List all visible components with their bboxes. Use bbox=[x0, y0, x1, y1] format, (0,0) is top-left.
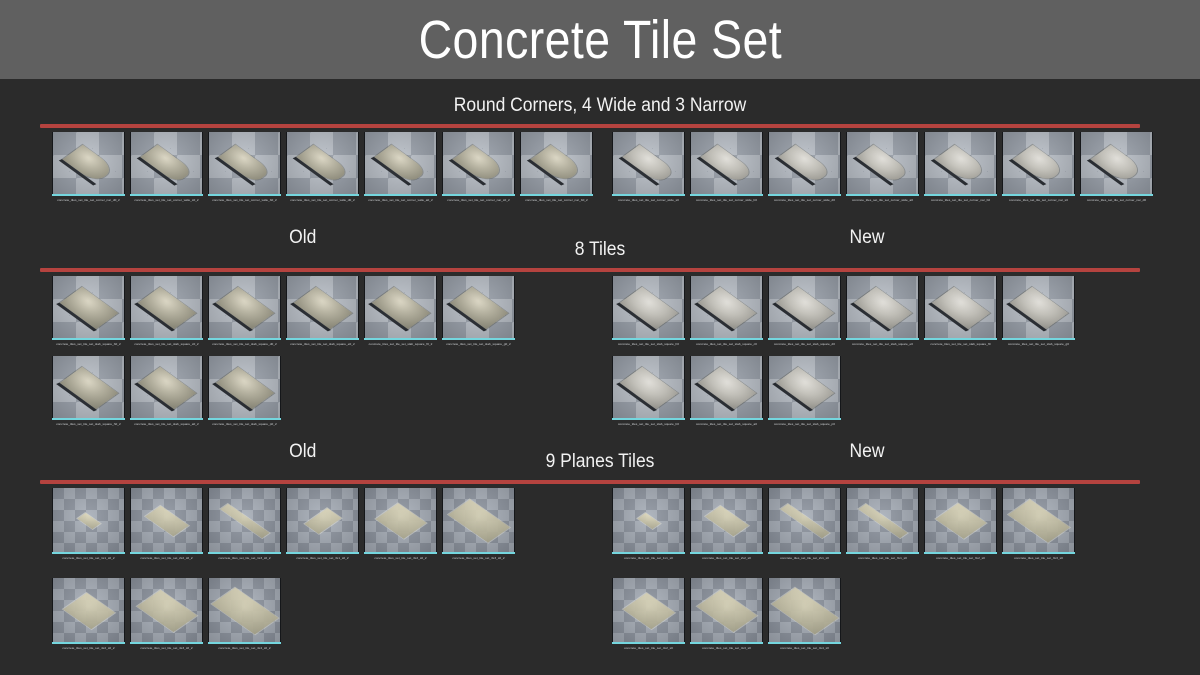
thumbnail-card[interactable]: concrete_tiles_set_tile_set_slab_square_… bbox=[286, 276, 359, 346]
preview-vignette bbox=[613, 578, 684, 642]
thumbnail-label: concrete_tiles_set_tile_set_2x2_s0 bbox=[690, 556, 763, 560]
thumbnail-preview[interactable] bbox=[1002, 488, 1075, 552]
preview-vignette bbox=[131, 132, 202, 194]
thumbnail-card[interactable]: concrete_tiles_set_tile_set_2x1_s0 bbox=[768, 488, 841, 560]
thumbnail-preview[interactable] bbox=[52, 356, 125, 418]
thumbnail-row: concrete_tiles_set_tile_set_corner_wide_… bbox=[612, 132, 1153, 202]
thumbnail-preview[interactable] bbox=[286, 132, 359, 194]
preview-vignette bbox=[287, 276, 358, 338]
thumbnail-preview[interactable] bbox=[924, 488, 997, 552]
thumbnail-label: concrete_tiles_set_tile_set_corner_wide_… bbox=[612, 198, 685, 202]
page-title: Concrete Tile Set bbox=[418, 13, 782, 67]
thumbnail-underline bbox=[768, 552, 841, 554]
thumbnail-underline bbox=[846, 194, 919, 196]
preview-vignette bbox=[769, 356, 840, 418]
thumbnail-preview[interactable] bbox=[364, 132, 437, 194]
thumbnail-card[interactable]: concrete_tiles_set_tile_set_slab_square_… bbox=[442, 276, 515, 346]
thumbnail-card[interactable]: concrete_tiles_set_tile_set_corner_wide_… bbox=[364, 132, 437, 202]
thumbnail-label: concrete_tiles_set_tile_set_4x4_s0_2 bbox=[208, 646, 281, 650]
thumbnail-card[interactable]: concrete_tiles_set_tile_set_corner_nar_b… bbox=[520, 132, 593, 202]
thumbnail-underline bbox=[768, 338, 841, 340]
thumbnail-preview[interactable] bbox=[612, 578, 685, 642]
thumbnail-underline bbox=[286, 194, 359, 196]
thumbnail-label: concrete_tiles_set_tile_set_slab_square_… bbox=[208, 422, 281, 426]
thumbnail-preview[interactable] bbox=[52, 276, 125, 338]
thumbnail-label: concrete_tiles_set_tile_set_corner_nar_b… bbox=[520, 198, 593, 202]
thumbnail-card[interactable]: concrete_tiles_set_tile_set_4x2_s0 bbox=[612, 578, 685, 650]
thumbnail-label: concrete_tiles_set_tile_set_corner_wide_… bbox=[364, 198, 437, 202]
thumbnail-underline bbox=[52, 552, 125, 554]
thumbnail-label: concrete_tiles_set_tile_set_corner_nar_s… bbox=[442, 198, 515, 202]
preview-vignette bbox=[53, 578, 124, 642]
thumbnail-preview[interactable] bbox=[768, 356, 841, 418]
thumbnail-underline bbox=[520, 194, 593, 196]
thumbnail-preview[interactable] bbox=[52, 578, 125, 642]
thumbnail-label: concrete_tiles_set_tile_set_slab_square_… bbox=[286, 342, 359, 346]
thumbnail-label: concrete_tiles_set_tile_set_3x1_s0 bbox=[846, 556, 919, 560]
preview-vignette bbox=[613, 132, 684, 194]
thumbnail-underline bbox=[208, 418, 281, 420]
thumbnail-label: concrete_tiles_set_tile_set_corner_wide_… bbox=[846, 198, 919, 202]
thumbnail-card[interactable]: concrete_tiles_set_tile_set_corner_nar_d… bbox=[52, 132, 125, 202]
preview-vignette bbox=[769, 276, 840, 338]
thumbnail-preview[interactable] bbox=[768, 132, 841, 194]
thumbnail-preview[interactable] bbox=[612, 132, 685, 194]
thumbnail-underline bbox=[1002, 338, 1075, 340]
thumbnail-card[interactable]: concrete_tiles_set_tile_set_slab_square_… bbox=[1002, 276, 1075, 346]
thumbnail-card[interactable]: concrete_tiles_set_tile_set_2x2_s0_2 bbox=[130, 488, 203, 560]
preview-vignette bbox=[209, 132, 280, 194]
section-divider bbox=[40, 480, 1140, 484]
thumbnail-preview[interactable] bbox=[130, 578, 203, 642]
thumbnail-card[interactable]: concrete_tiles_set_tile_set_4x2_s0_2 bbox=[52, 578, 125, 650]
preview-vignette bbox=[521, 132, 592, 194]
thumbnail-underline bbox=[208, 194, 281, 196]
preview-vignette bbox=[847, 488, 918, 552]
thumbnail-label: concrete_tiles_set_tile_set_1x3_s0_2 bbox=[208, 556, 281, 560]
thumbnail-card[interactable]: concrete_tiles_set_tile_set_4x4_s0_2 bbox=[208, 578, 281, 650]
preview-vignette bbox=[53, 356, 124, 418]
thumbnail-card[interactable]: concrete_tiles_set_tile_set_slab_square_… bbox=[130, 356, 203, 426]
thumbnail-preview[interactable] bbox=[1080, 132, 1153, 194]
preview-vignette bbox=[1003, 276, 1074, 338]
thumbnail-underline bbox=[690, 194, 763, 196]
preview-vignette bbox=[131, 356, 202, 418]
thumbnail-preview[interactable] bbox=[1002, 132, 1075, 194]
preview-vignette bbox=[131, 276, 202, 338]
thumbnail-preview[interactable] bbox=[130, 132, 203, 194]
thumbnail-card[interactable]: concrete_tiles_set_tile_set_slab_square_… bbox=[52, 356, 125, 426]
thumbnail-label: concrete_tiles_set_tile_set_4x4_s0 bbox=[768, 646, 841, 650]
preview-vignette bbox=[53, 276, 124, 338]
thumbnail-preview[interactable] bbox=[690, 276, 763, 338]
thumbnail-preview[interactable] bbox=[846, 276, 919, 338]
thumbnail-underline bbox=[130, 194, 203, 196]
preview-vignette bbox=[691, 356, 762, 418]
thumbnail-underline bbox=[208, 552, 281, 554]
thumbnail-preview[interactable] bbox=[924, 276, 997, 338]
thumbnail-label: concrete_tiles_set_tile_set_4x2_s0_2 bbox=[52, 646, 125, 650]
thumbnail-card[interactable]: concrete_tiles_set_tile_set_2x2_s0 bbox=[690, 488, 763, 560]
thumbnail-card[interactable]: concrete_tiles_set_tile_set_corner_wide_… bbox=[286, 132, 359, 202]
section-title: 8 Tiles bbox=[48, 240, 1152, 259]
thumbnail-card[interactable]: concrete_tiles_set_tile_set_corner_nar_s… bbox=[442, 132, 515, 202]
thumbnail-underline bbox=[442, 552, 515, 554]
thumbnail-label: concrete_tiles_set_tile_set_2x1_s0 bbox=[768, 556, 841, 560]
thumbnail-card[interactable]: concrete_tiles_set_tile_set_3x2_s0_2 bbox=[364, 488, 437, 560]
thumbnail-label: concrete_tiles_set_tile_set_corner_nar_b… bbox=[924, 198, 997, 202]
thumbnail-row: concrete_tiles_set_tile_set_4x2_s0concre… bbox=[612, 578, 841, 650]
preview-vignette bbox=[287, 132, 358, 194]
thumbnail-label: concrete_tiles_set_tile_set_3x3_s0_2 bbox=[442, 556, 515, 560]
thumbnail-card[interactable]: concrete_tiles_set_tile_set_corner_nar_b… bbox=[924, 132, 997, 202]
thumbnail-card[interactable]: concrete_tiles_set_tile_set_corner_nar_s… bbox=[1002, 132, 1075, 202]
thumbnail-preview[interactable] bbox=[286, 276, 359, 338]
preview-vignette bbox=[769, 488, 840, 552]
thumbnail-preview[interactable] bbox=[612, 356, 685, 418]
thumbnail-label: concrete_tiles_set_tile_set_1x1_s0_2 bbox=[52, 556, 125, 560]
thumbnail-preview[interactable] bbox=[846, 488, 919, 552]
thumbnail-row: concrete_tiles_set_tile_set_1x1_s0_2conc… bbox=[52, 488, 515, 560]
thumbnail-underline bbox=[130, 642, 203, 644]
thumbnail-preview[interactable] bbox=[130, 276, 203, 338]
thumbnail-preview[interactable] bbox=[208, 488, 281, 552]
preview-vignette bbox=[847, 276, 918, 338]
thumbnail-label: concrete_tiles_set_tile_set_corner_nar_d… bbox=[52, 198, 125, 202]
thumbnail-label: concrete_tiles_set_tile_set_slab_square_… bbox=[208, 342, 281, 346]
thumbnail-preview[interactable] bbox=[690, 488, 763, 552]
thumbnail-underline bbox=[924, 338, 997, 340]
thumbnail-preview[interactable] bbox=[442, 488, 515, 552]
thumbnail-row: concrete_tiles_set_tile_set_slab_square_… bbox=[52, 356, 281, 426]
thumbnail-underline bbox=[364, 552, 437, 554]
thumbnail-card[interactable]: concrete_tiles_set_tile_set_slab_square_… bbox=[690, 356, 763, 426]
thumbnail-preview[interactable] bbox=[52, 132, 125, 194]
thumbnail-preview[interactable] bbox=[612, 488, 685, 552]
thumbnail-label: concrete_tiles_set_tile_set_corner_wide_… bbox=[286, 198, 359, 202]
preview-vignette bbox=[691, 276, 762, 338]
thumbnail-underline bbox=[52, 338, 125, 340]
thumbnail-label: concrete_tiles_set_tile_set_slab_square_… bbox=[52, 342, 125, 346]
thumbnail-underline bbox=[442, 194, 515, 196]
thumbnail-underline bbox=[1002, 552, 1075, 554]
preview-vignette bbox=[131, 488, 202, 552]
thumbnail-preview[interactable] bbox=[690, 132, 763, 194]
thumbnail-label: concrete_tiles_set_tile_set_corner_nar_d… bbox=[1080, 198, 1153, 202]
thumbnail-underline bbox=[364, 338, 437, 340]
thumbnail-preview[interactable] bbox=[846, 132, 919, 194]
preview-vignette bbox=[209, 578, 280, 642]
thumbnail-card[interactable]: concrete_tiles_set_tile_set_slab_square_… bbox=[208, 276, 281, 346]
preview-vignette bbox=[209, 488, 280, 552]
preview-vignette bbox=[925, 132, 996, 194]
thumbnail-underline bbox=[52, 418, 125, 420]
thumbnail-card[interactable]: concrete_tiles_set_tile_set_slab_square_… bbox=[612, 276, 685, 346]
thumbnail-card[interactable]: concrete_tiles_set_tile_set_1x1_s0 bbox=[612, 488, 685, 560]
preview-vignette bbox=[443, 276, 514, 338]
thumbnail-card[interactable]: concrete_tiles_set_tile_set_slab_square_… bbox=[130, 276, 203, 346]
thumbnail-label: concrete_tiles_set_tile_set_slab_square_… bbox=[768, 342, 841, 346]
thumbnail-card[interactable]: concrete_tiles_set_tile_set_slab_square_… bbox=[52, 276, 125, 346]
section-divider bbox=[40, 124, 1140, 128]
thumbnail-label: concrete_tiles_set_tile_set_slab_square_… bbox=[690, 342, 763, 346]
thumbnail-preview[interactable] bbox=[1002, 276, 1075, 338]
thumbnail-card[interactable]: concrete_tiles_set_tile_set_3x2_s0 bbox=[924, 488, 997, 560]
thumbnail-underline bbox=[286, 552, 359, 554]
thumbnail-underline bbox=[690, 418, 763, 420]
preview-vignette bbox=[691, 132, 762, 194]
thumbnail-preview[interactable] bbox=[612, 276, 685, 338]
preview-vignette bbox=[131, 578, 202, 642]
thumbnail-card[interactable]: concrete_tiles_set_tile_set_slab_square_… bbox=[690, 276, 763, 346]
preview-vignette bbox=[769, 132, 840, 194]
thumbnail-label: concrete_tiles_set_tile_set_slab_square_… bbox=[690, 422, 763, 426]
thumbnail-preview[interactable] bbox=[520, 132, 593, 194]
thumbnail-card[interactable]: concrete_tiles_set_tile_set_corner_wide_… bbox=[208, 132, 281, 202]
thumbnail-row: concrete_tiles_set_tile_set_1x1_s0concre… bbox=[612, 488, 1075, 560]
thumbnail-card[interactable]: concrete_tiles_set_tile_set_3x3_s0 bbox=[1002, 488, 1075, 560]
thumbnail-card[interactable]: concrete_tiles_set_tile_set_1x1_s0_2 bbox=[52, 488, 125, 560]
thumbnail-underline bbox=[768, 194, 841, 196]
thumbnail-preview[interactable] bbox=[208, 356, 281, 418]
thumbnail-label: concrete_tiles_set_tile_set_corner_nar_s… bbox=[1002, 198, 1075, 202]
thumbnail-label: concrete_tiles_set_tile_set_slab_square_… bbox=[924, 342, 997, 346]
preview-vignette bbox=[769, 578, 840, 642]
preview-vignette bbox=[53, 132, 124, 194]
thumbnail-preview[interactable] bbox=[286, 488, 359, 552]
thumbnail-underline bbox=[286, 338, 359, 340]
thumbnail-underline bbox=[846, 552, 919, 554]
thumbnail-preview[interactable] bbox=[130, 356, 203, 418]
thumbnail-label: concrete_tiles_set_tile_set_slab_square_… bbox=[612, 342, 685, 346]
preview-vignette bbox=[691, 488, 762, 552]
thumbnail-row: concrete_tiles_set_tile_set_slab_square_… bbox=[612, 356, 841, 426]
thumbnail-card[interactable]: concrete_tiles_set_tile_set_4x3_s0_2 bbox=[130, 578, 203, 650]
thumbnail-card[interactable]: concrete_tiles_set_tile_set_slab_square_… bbox=[768, 356, 841, 426]
preview-vignette bbox=[365, 132, 436, 194]
thumbnail-card[interactable]: concrete_tiles_set_tile_set_corner_wide_… bbox=[612, 132, 685, 202]
preview-vignette bbox=[613, 276, 684, 338]
thumbnail-label: concrete_tiles_set_tile_set_3x2_s0 bbox=[924, 556, 997, 560]
thumbnail-underline bbox=[208, 338, 281, 340]
thumbnail-label: concrete_tiles_set_tile_set_slab_square_… bbox=[130, 422, 203, 426]
thumbnail-card[interactable]: concrete_tiles_set_tile_set_slab_square_… bbox=[846, 276, 919, 346]
section-title: Round Corners, 4 Wide and 3 Narrow bbox=[48, 96, 1152, 115]
thumbnail-label: concrete_tiles_set_tile_set_slab_square_… bbox=[768, 422, 841, 426]
thumbnail-card[interactable]: concrete_tiles_set_tile_set_corner_nar_d… bbox=[1080, 132, 1153, 202]
thumbnail-underline bbox=[442, 338, 515, 340]
thumbnail-preview[interactable] bbox=[442, 276, 515, 338]
thumbnail-card[interactable]: concrete_tiles_set_tile_set_4x3_s0 bbox=[690, 578, 763, 650]
thumbnail-preview[interactable] bbox=[690, 356, 763, 418]
thumbnail-preview[interactable] bbox=[364, 276, 437, 338]
thumbnail-row: concrete_tiles_set_tile_set_corner_nar_d… bbox=[52, 132, 593, 202]
thumbnail-row: concrete_tiles_set_tile_set_slab_square_… bbox=[52, 276, 515, 346]
thumbnail-preview[interactable] bbox=[768, 578, 841, 642]
thumbnail-label: concrete_tiles_set_tile_set_4x3_s0_2 bbox=[130, 646, 203, 650]
thumbnail-preview[interactable] bbox=[924, 132, 997, 194]
thumbnail-underline bbox=[924, 552, 997, 554]
preview-vignette bbox=[613, 356, 684, 418]
thumbnail-label: concrete_tiles_set_tile_set_3x2_s0_2 bbox=[364, 556, 437, 560]
thumbnail-underline bbox=[1002, 194, 1075, 196]
preview-vignette bbox=[613, 488, 684, 552]
thumbnail-label: concrete_tiles_set_tile_set_corner_wide_… bbox=[690, 198, 763, 202]
thumbnail-label: concrete_tiles_set_tile_set_slab_square_… bbox=[1002, 342, 1075, 346]
thumbnail-label: concrete_tiles_set_tile_set_1x1_s0 bbox=[612, 556, 685, 560]
thumbnail-preview[interactable] bbox=[130, 488, 203, 552]
thumbnail-card[interactable]: concrete_tiles_set_tile_set_3x3_s0_2 bbox=[442, 488, 515, 560]
preview-vignette bbox=[691, 578, 762, 642]
thumbnail-label: concrete_tiles_set_tile_set_4x2_s0 bbox=[612, 646, 685, 650]
thumbnail-preview[interactable] bbox=[52, 488, 125, 552]
thumbnail-label: concrete_tiles_set_tile_set_slab_square_… bbox=[52, 422, 125, 426]
thumbnail-row: concrete_tiles_set_tile_set_4x2_s0_2conc… bbox=[52, 578, 281, 650]
thumbnail-underline bbox=[208, 642, 281, 644]
thumbnail-row: concrete_tiles_set_tile_set_slab_square_… bbox=[612, 276, 1075, 346]
thumbnail-label: concrete_tiles_set_tile_set_3x3_s0 bbox=[1002, 556, 1075, 560]
thumbnail-underline bbox=[768, 418, 841, 420]
thumbnail-underline bbox=[690, 338, 763, 340]
preview-vignette bbox=[925, 276, 996, 338]
thumbnail-card[interactable]: concrete_tiles_set_tile_set_3x1_s0 bbox=[846, 488, 919, 560]
preview-vignette bbox=[925, 488, 996, 552]
thumbnail-underline bbox=[52, 194, 125, 196]
thumbnail-underline bbox=[364, 194, 437, 196]
thumbnail-underline bbox=[130, 338, 203, 340]
preview-vignette bbox=[847, 132, 918, 194]
preview-vignette bbox=[1003, 488, 1074, 552]
thumbnail-card[interactable]: concrete_tiles_set_tile_set_corner_wide_… bbox=[846, 132, 919, 202]
thumbnail-underline bbox=[690, 552, 763, 554]
thumbnail-label: concrete_tiles_set_tile_set_4x3_s0 bbox=[690, 646, 763, 650]
thumbnail-label: concrete_tiles_set_tile_set_corner_wide_… bbox=[208, 198, 281, 202]
thumbnail-underline bbox=[612, 552, 685, 554]
thumbnail-card[interactable]: concrete_tiles_set_tile_set_slab_square_… bbox=[612, 356, 685, 426]
preview-vignette bbox=[1003, 132, 1074, 194]
thumbnail-label: concrete_tiles_set_tile_set_slab_square_… bbox=[364, 342, 437, 346]
thumbnail-card[interactable]: concrete_tiles_set_tile_set_4x4_s0 bbox=[768, 578, 841, 650]
thumbnail-card[interactable]: concrete_tiles_set_tile_set_slab_square_… bbox=[768, 276, 841, 346]
preview-vignette bbox=[365, 488, 436, 552]
thumbnail-label: concrete_tiles_set_tile_set_2x2_s0_2 bbox=[130, 556, 203, 560]
preview-vignette bbox=[209, 276, 280, 338]
section-divider bbox=[40, 268, 1140, 272]
thumbnail-underline bbox=[130, 418, 203, 420]
thumbnail-preview[interactable] bbox=[768, 488, 841, 552]
thumbnail-label: concrete_tiles_set_tile_set_slab_square_… bbox=[612, 422, 685, 426]
thumbnail-card[interactable]: concrete_tiles_set_tile_set_slab_square_… bbox=[364, 276, 437, 346]
thumbnail-card[interactable]: concrete_tiles_set_tile_set_slab_square_… bbox=[208, 356, 281, 426]
preview-vignette bbox=[287, 488, 358, 552]
thumbnail-preview[interactable] bbox=[208, 132, 281, 194]
thumbnail-label: concrete_tiles_set_tile_set_3x1_s0_2 bbox=[286, 556, 359, 560]
thumbnail-preview[interactable] bbox=[208, 276, 281, 338]
thumbnail-card[interactable]: concrete_tiles_set_tile_set_3x1_s0_2 bbox=[286, 488, 359, 560]
thumbnail-card[interactable]: concrete_tiles_set_tile_set_corner_wide_… bbox=[768, 132, 841, 202]
thumbnail-underline bbox=[612, 642, 685, 644]
thumbnail-label: concrete_tiles_set_tile_set_slab_square_… bbox=[442, 342, 515, 346]
thumbnail-label: concrete_tiles_set_tile_set_slab_square_… bbox=[130, 342, 203, 346]
thumbnail-label: concrete_tiles_set_tile_set_slab_square_… bbox=[846, 342, 919, 346]
title-bar: Concrete Tile Set bbox=[0, 0, 1200, 79]
thumbnail-underline bbox=[768, 642, 841, 644]
preview-vignette bbox=[209, 356, 280, 418]
thumbnail-underline bbox=[690, 642, 763, 644]
thumbnail-underline bbox=[846, 338, 919, 340]
thumbnail-card[interactable]: concrete_tiles_set_tile_set_corner_wide_… bbox=[130, 132, 203, 202]
thumbnail-underline bbox=[612, 338, 685, 340]
thumbnail-underline bbox=[1080, 194, 1153, 196]
thumbnail-label: concrete_tiles_set_tile_set_corner_wide_… bbox=[768, 198, 841, 202]
thumbnail-underline bbox=[130, 552, 203, 554]
thumbnail-label: concrete_tiles_set_tile_set_corner_wide_… bbox=[130, 198, 203, 202]
preview-vignette bbox=[1081, 132, 1152, 194]
preview-vignette bbox=[53, 488, 124, 552]
thumbnail-card[interactable]: concrete_tiles_set_tile_set_corner_wide_… bbox=[690, 132, 763, 202]
thumbnail-underline bbox=[612, 418, 685, 420]
preview-vignette bbox=[443, 488, 514, 552]
thumbnail-preview[interactable] bbox=[442, 132, 515, 194]
thumbnail-underline bbox=[924, 194, 997, 196]
thumbnail-preview[interactable] bbox=[364, 488, 437, 552]
preview-vignette bbox=[443, 132, 514, 194]
thumbnail-underline bbox=[612, 194, 685, 196]
preview-vignette bbox=[365, 276, 436, 338]
thumbnail-card[interactable]: concrete_tiles_set_tile_set_slab_square_… bbox=[924, 276, 997, 346]
thumbnail-underline bbox=[52, 642, 125, 644]
thumbnail-preview[interactable] bbox=[768, 276, 841, 338]
thumbnail-preview[interactable] bbox=[690, 578, 763, 642]
thumbnail-preview[interactable] bbox=[208, 578, 281, 642]
thumbnail-card[interactable]: concrete_tiles_set_tile_set_1x3_s0_2 bbox=[208, 488, 281, 560]
section-title: 9 Planes Tiles bbox=[48, 452, 1152, 471]
